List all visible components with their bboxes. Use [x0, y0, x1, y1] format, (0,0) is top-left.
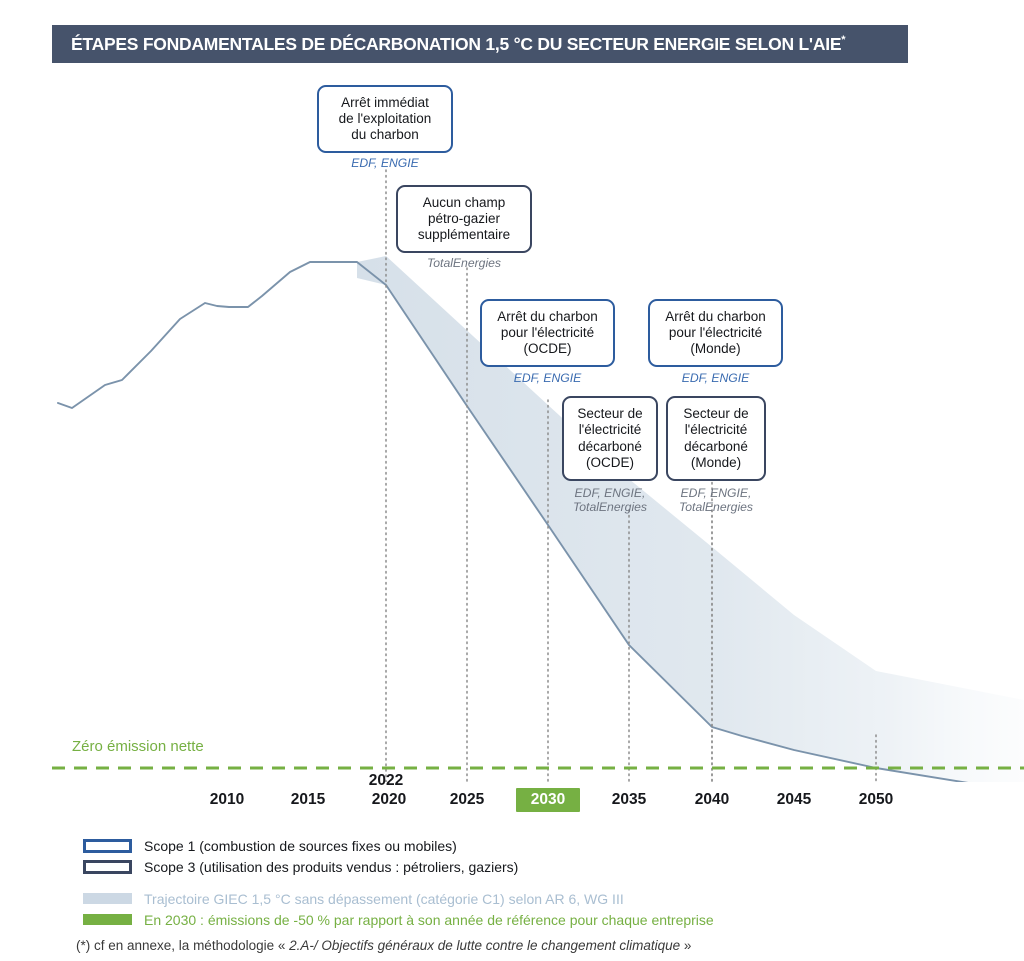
- footnote: (*) cf en annexe, la méthodologie « 2.A-…: [76, 938, 691, 953]
- callout-aucun-champ[interactable]: Aucun champ pétro-gazier supplémentaire: [396, 185, 532, 253]
- legend-label-green: En 2030 : émissions de -50 % par rapport…: [144, 912, 714, 928]
- axis-tick-2025: 2025: [437, 791, 497, 809]
- callout-attribution-arret-charbon-elec-ocde: EDF, ENGIE: [480, 371, 615, 385]
- callout-secteur-elec-monde[interactable]: Secteur de l'électricité décarboné (Mond…: [666, 396, 766, 481]
- footnote-prefix: (*) cf en annexe, la méthodologie «: [76, 938, 289, 953]
- axis-tick-2030-highlighted[interactable]: 2030: [516, 788, 580, 812]
- axis-tick-2015: 2015: [278, 791, 338, 809]
- legend: Scope 1 (combustion de sources fixes ou …: [83, 836, 843, 931]
- attribution-text: EDF, ENGIE, TotalEnergies: [573, 486, 647, 514]
- legend-row-green: En 2030 : émissions de -50 % par rapport…: [83, 910, 843, 929]
- legend-spacer: [83, 878, 843, 889]
- callout-text: Arrêt immédiat de l'exploitation du char…: [339, 95, 432, 143]
- chart-plot-area: [0, 70, 1024, 782]
- legend-label-scope3: Scope 3 (utilisation des produits vendus…: [144, 859, 518, 875]
- callout-arret-charbon[interactable]: Arrêt immédiat de l'exploitation du char…: [317, 85, 453, 153]
- page-title-text: ÉTAPES FONDAMENTALES DE DÉCARBONATION 1,…: [71, 34, 841, 54]
- axis-tick-2040: 2040: [682, 791, 742, 809]
- legend-row-scope1: Scope 1 (combustion de sources fixes ou …: [83, 836, 843, 855]
- scope3-swatch-icon: [83, 860, 132, 874]
- attribution-text: EDF, ENGIE: [514, 371, 582, 385]
- target-2030-swatch-icon: [83, 914, 132, 925]
- callout-text: Aucun champ pétro-gazier supplémentaire: [418, 195, 510, 243]
- footnote-italic: 2.A-/ Objectifs généraux de lutte contre…: [289, 938, 680, 953]
- callout-secteur-elec-ocde[interactable]: Secteur de l'électricité décarboné (OCDE…: [562, 396, 658, 481]
- attribution-text: EDF, ENGIE: [682, 371, 750, 385]
- callout-text: Arrêt du charbon pour l'électricité (Mon…: [665, 309, 766, 357]
- legend-row-scope3: Scope 3 (utilisation des produits vendus…: [83, 857, 843, 876]
- legend-label-band: Trajectoire GIEC 1,5 °C sans dépassement…: [144, 891, 624, 907]
- attribution-text: TotalEnergies: [427, 256, 501, 270]
- title-bar: ÉTAPES FONDAMENTALES DE DÉCARBONATION 1,…: [52, 25, 908, 63]
- legend-label-scope1: Scope 1 (combustion de sources fixes ou …: [144, 838, 457, 854]
- callout-arret-charbon-elec-monde[interactable]: Arrêt du charbon pour l'électricité (Mon…: [648, 299, 783, 367]
- callout-attribution-arret-charbon: EDF, ENGIE: [317, 156, 453, 170]
- callout-attribution-arret-charbon-elec-monde: EDF, ENGIE: [648, 371, 783, 385]
- axis-tick-2035: 2035: [599, 791, 659, 809]
- axis-tick-2022: 2022: [356, 772, 416, 790]
- title-asterisk: *: [841, 34, 845, 46]
- scope1-swatch-icon: [83, 839, 132, 853]
- footnote-suffix: »: [680, 938, 691, 953]
- zero-emission-label: Zéro émission nette: [72, 738, 204, 755]
- callout-text: Secteur de l'électricité décarboné (OCDE…: [577, 406, 642, 470]
- attribution-text: EDF, ENGIE, TotalEnergies: [679, 486, 753, 514]
- callout-attribution-secteur-elec-monde: EDF, ENGIE, TotalEnergies: [652, 486, 780, 515]
- callout-attribution-aucun-champ: TotalEnergies: [396, 256, 532, 270]
- attribution-text: EDF, ENGIE: [351, 156, 419, 170]
- callout-text: Secteur de l'électricité décarboné (Mond…: [683, 406, 748, 470]
- axis-tick-2045: 2045: [764, 791, 824, 809]
- giec-band-swatch-icon: [83, 893, 132, 904]
- axis-tick-2020: 2020: [359, 791, 419, 809]
- legend-row-band: Trajectoire GIEC 1,5 °C sans dépassement…: [83, 889, 843, 908]
- page-title: ÉTAPES FONDAMENTALES DE DÉCARBONATION 1,…: [52, 34, 845, 55]
- emissions-chart-svg: [0, 70, 1024, 782]
- callout-arret-charbon-elec-ocde[interactable]: Arrêt du charbon pour l'électricité (OCD…: [480, 299, 615, 367]
- axis-tick-2010: 2010: [197, 791, 257, 809]
- axis-tick-2050: 2050: [846, 791, 906, 809]
- callout-text: Arrêt du charbon pour l'électricité (OCD…: [497, 309, 598, 357]
